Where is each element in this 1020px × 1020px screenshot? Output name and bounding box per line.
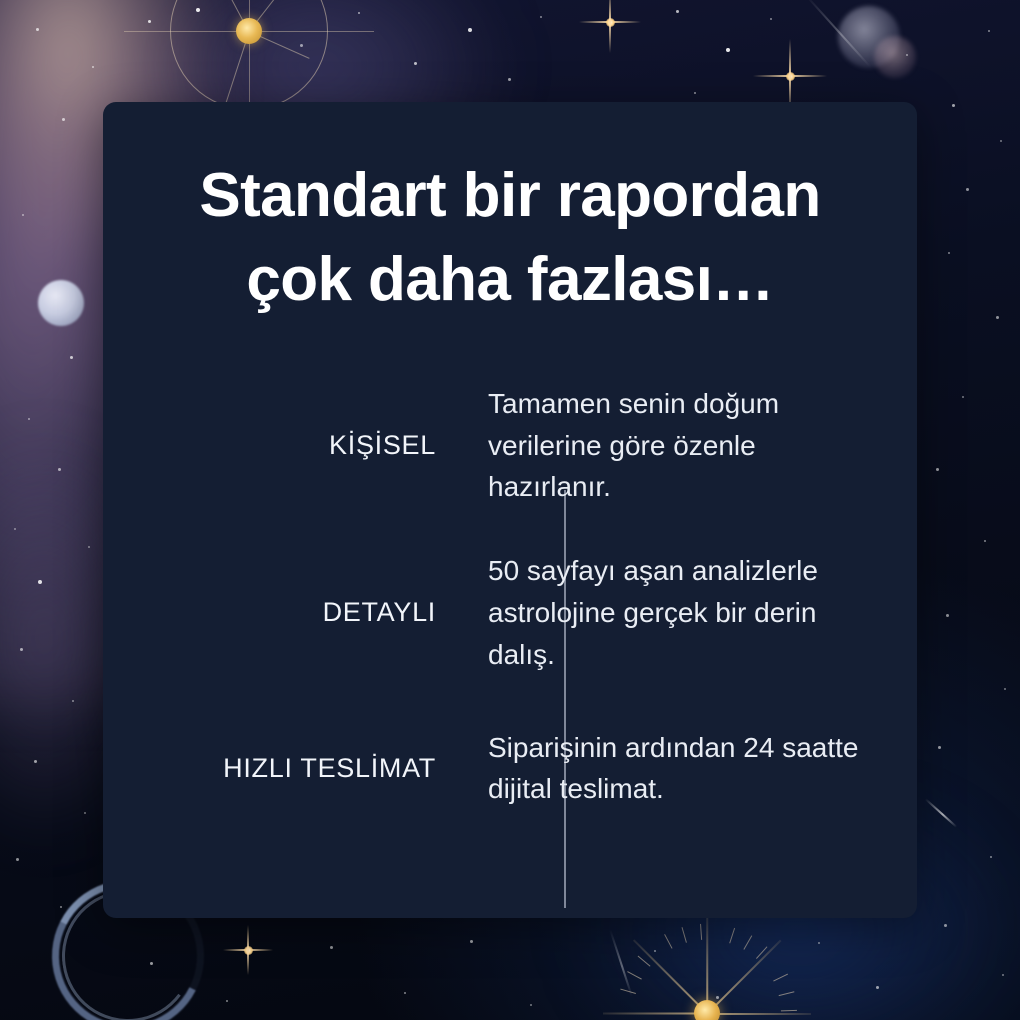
feature-description-hizli-teslimat: Siparişinin ardından 24 saatte dijital t… <box>462 727 875 810</box>
promo-graphic: Standart bir rapordan çok daha fazlası… … <box>0 0 1020 1020</box>
feature-label-hizli-teslimat: HIZLI TESLİMAT <box>145 753 462 784</box>
feature-row: KİŞİSEL Tamamen senin doğum verilerine g… <box>145 374 875 517</box>
feature-list: KİŞİSEL Tamamen senin doğum verilerine g… <box>103 374 917 828</box>
content-card: Standart bir rapordan çok daha fazlası… … <box>103 102 917 918</box>
planet-orb <box>38 280 84 326</box>
feature-description-kisisel: Tamamen senin doğum verilerine göre özen… <box>462 383 875 508</box>
feature-description-detayli: 50 sayfayı aşan analizlerle astrolojine … <box>462 550 875 675</box>
headline-line-1: Standart bir rapordan <box>139 154 881 238</box>
lens-flare-small-icon <box>874 36 916 78</box>
feature-row: HIZLI TESLİMAT Siparişinin ardından 24 s… <box>145 708 875 828</box>
feature-label-detayli: DETAYLI <box>145 597 462 628</box>
feature-label-kisisel: KİŞİSEL <box>145 430 462 461</box>
page-title: Standart bir rapordan çok daha fazlası… <box>103 154 917 323</box>
headline-line-2: çok daha fazlası… <box>139 238 881 322</box>
feature-row: DETAYLI 50 sayfayı aşan analizlerle astr… <box>145 541 875 684</box>
